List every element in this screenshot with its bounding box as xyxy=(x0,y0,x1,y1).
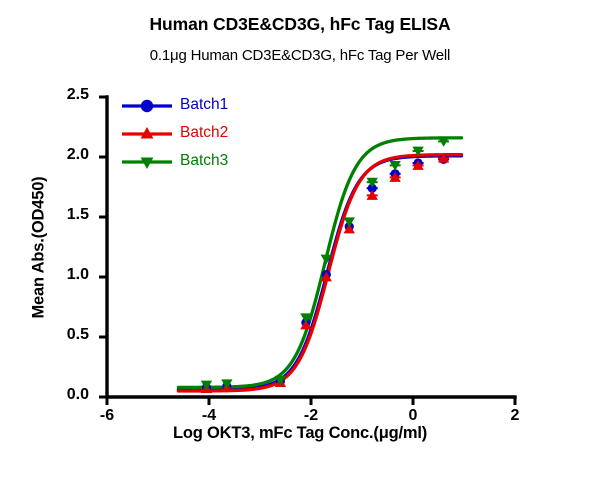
series-line-batch3 xyxy=(178,138,461,388)
x-axis-tick-label: 0 xyxy=(398,407,428,425)
x-axis-tick-label: -4 xyxy=(194,407,224,425)
legend-label-batch2: Batch2 xyxy=(180,124,228,142)
legend-marker-batch3 xyxy=(120,150,174,174)
legend-label-batch1: Batch1 xyxy=(180,96,228,114)
x-axis-tick-label: -2 xyxy=(296,407,326,425)
legend-marker-batch2 xyxy=(120,122,174,146)
y-axis-tick-label: 1.0 xyxy=(45,266,89,284)
y-axis-tick-label: 2.5 xyxy=(45,86,89,104)
x-axis-tick-label: 2 xyxy=(500,407,530,425)
y-axis-tick-label: 1.5 xyxy=(45,206,89,224)
x-axis-title: Log OKT3, mFc Tag Conc.(μg/ml) xyxy=(0,424,600,443)
legend-label-batch3: Batch3 xyxy=(180,152,228,170)
y-axis-tick-label: 0.0 xyxy=(45,386,89,404)
chart-root: Human CD3E&CD3G, hFc Tag ELISA 0.1μg Hum… xyxy=(0,0,600,478)
y-axis-title: Mean Abs.(OD450) xyxy=(30,123,49,373)
legend-marker-batch1 xyxy=(120,94,174,118)
y-axis-tick-label: 0.5 xyxy=(45,326,89,344)
x-axis-tick-label: -6 xyxy=(92,407,122,425)
y-axis-tick-label: 2.0 xyxy=(45,146,89,164)
series-line-batch1 xyxy=(178,156,461,390)
series-line-batch2 xyxy=(178,155,461,391)
